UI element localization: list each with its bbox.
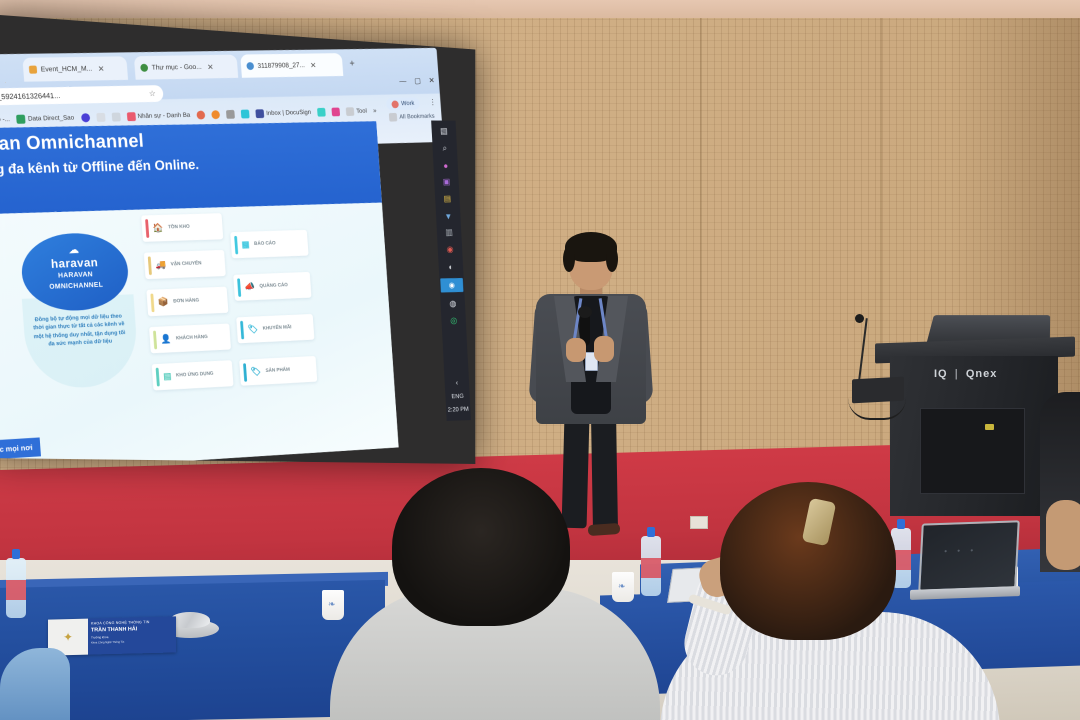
all-bookmarks-label: All Bookmarks	[399, 113, 435, 120]
slide-body: ...I THIỆU WEBSITE LOYALTY & CUSTOMER EN…	[0, 203, 399, 464]
slide-title: Haravan Omnichannel	[0, 127, 371, 157]
presenter-right-leg	[591, 416, 618, 530]
conference-room: Event_HCM_M... ✕ Thư mục - Goo... ✕ 3118…	[0, 0, 1080, 720]
maximize-icon[interactable]: ▢	[414, 76, 421, 85]
minimize-icon[interactable]: —	[399, 77, 407, 86]
wall-outlet	[690, 516, 708, 529]
start-icon[interactable]: ▤	[438, 126, 450, 136]
mail-icon[interactable]	[96, 112, 105, 121]
podium-logo-divider: |	[955, 368, 959, 380]
card-label: VẬN CHUYỂN	[171, 261, 202, 268]
teams-icon[interactable]	[317, 107, 326, 116]
promo-icon: 🏷	[247, 324, 258, 336]
podium-logo-secondary: Qnex	[966, 368, 998, 380]
profile-chip[interactable]: Work	[386, 97, 420, 110]
report-icon: ▦	[241, 239, 250, 251]
tab-title: 311879908_27...	[257, 62, 305, 70]
presenter-hair-side	[563, 246, 575, 272]
whatsapp-icon[interactable]: ◎	[448, 316, 460, 327]
product-icon: 🏷	[250, 366, 261, 378]
card-accent-bar	[148, 256, 152, 275]
kebab-menu-icon[interactable]: ⋮	[429, 98, 436, 107]
card-accent-bar	[153, 331, 157, 350]
clock[interactable]: 2:20 PM	[446, 406, 471, 414]
browser-tab[interactable]: Thư mục - Goo... ✕	[134, 55, 238, 80]
podium-equipment-panel	[920, 408, 1025, 494]
cortana-icon[interactable]: ●	[440, 160, 452, 170]
bottle-label	[6, 580, 26, 600]
chevron-up-icon[interactable]: ‹	[445, 378, 470, 387]
taskbar-system-tray[interactable]: ‹ ENG 2:20 PM	[445, 378, 471, 414]
tab-favicon	[246, 62, 254, 70]
projection-screen: Event_HCM_M... ✕ Thư mục - Goo... ✕ 3118…	[0, 14, 475, 464]
bookmark-favicon	[126, 112, 135, 121]
tab-close-icon[interactable]: ✕	[310, 61, 317, 70]
teams-icon[interactable]: ▣	[441, 177, 453, 187]
edge-icon[interactable]: ◐	[445, 261, 457, 272]
bookmark-label: Nhân sự - Danh Ba	[137, 111, 190, 119]
tab-favicon	[140, 64, 148, 72]
explorer-icon[interactable]: ▤	[441, 194, 453, 204]
card-accent-bar	[234, 236, 238, 254]
bookmark-favicon	[16, 114, 25, 123]
browser-tab-active[interactable]: 311879908_27... ✕	[240, 53, 343, 78]
slide-subtitle: ...n hàng đa kênh từ Offline đến Online.	[0, 153, 372, 178]
megaphone-icon: 📣	[244, 281, 255, 293]
folder-icon[interactable]: ▥	[443, 227, 455, 237]
podium-logo-primary: IQ	[934, 368, 948, 380]
photos-icon[interactable]	[111, 112, 120, 121]
bookmark-label: Inbox | DocuSign	[266, 109, 311, 117]
card-label: KHO ỨNG DỤNG	[176, 371, 214, 379]
nameplate: ✦ KHOA CÔNG NGHỆ THÔNG TIN TRẦN THANH HẢ…	[48, 616, 176, 655]
tab-close-icon[interactable]: ✕	[207, 62, 214, 71]
audience-member-head	[392, 468, 570, 626]
warehouse-icon: 🏠	[152, 222, 163, 234]
tab-title: Thư mục - Goo...	[151, 63, 201, 71]
bookmarks-overflow-icon[interactable]: »	[373, 107, 377, 114]
card-accent-bar	[156, 368, 160, 387]
cup-logo: ❧	[328, 599, 336, 610]
diagram-card: 👤 KHÁCH HÀNG	[149, 323, 231, 353]
order-icon: 📦	[158, 296, 169, 308]
presenter-shoe	[588, 523, 621, 536]
window-controls[interactable]: — ▢ ✕	[399, 76, 435, 85]
star-icon[interactable]: ☆	[149, 89, 156, 98]
nameplate-name: TRẦN THANH HẢI	[91, 625, 174, 633]
folder-icon	[389, 113, 398, 122]
presenter-left-leg	[562, 416, 590, 529]
card-accent-bar	[240, 321, 244, 339]
address-bar[interactable]: 7617273_5924161326441... ☆	[0, 85, 164, 106]
customer-icon: 👤	[160, 334, 171, 346]
bookmark-item[interactable]: Nhân sự - Danh Ba	[126, 110, 190, 120]
presenter-hair-side	[606, 246, 618, 272]
diagram-card: ▤ KHO ỨNG DỤNG	[152, 360, 234, 390]
card-label: KHÁCH HÀNG	[176, 334, 208, 342]
folder-icon	[346, 107, 355, 116]
audience-member-arm	[1046, 500, 1080, 570]
bookmark-item[interactable]: Toàn Sao -...	[0, 115, 10, 125]
card-label: SẢN PHẨM	[265, 367, 290, 375]
zalo-icon[interactable]: ▼	[442, 211, 454, 221]
nameplate-dept: Khoa Công Nghệ Thông Tin	[91, 639, 174, 644]
bookmark-item[interactable]: Inbox | DocuSign	[255, 108, 311, 118]
nameplate-org: KHOA CÔNG NGHỆ THÔNG TIN	[91, 619, 174, 625]
tab-favicon	[29, 66, 37, 74]
candy-wrappers	[170, 612, 210, 628]
card-label: ĐƠN HÀNG	[173, 298, 199, 305]
card-accent-bar	[237, 278, 241, 296]
bookmark-item[interactable]: Tool	[346, 106, 367, 115]
nameplate-text-panel: KHOA CÔNG NGHỆ THÔNG TIN TRẦN THANH HẢI …	[88, 616, 176, 654]
paper-cup: ❧	[322, 590, 344, 620]
apps-icon: ▤	[163, 371, 172, 383]
presenter-right-hand	[594, 336, 614, 362]
water-bottle	[6, 558, 26, 618]
profile-label: Work	[401, 100, 415, 107]
card-label: KHUYẾN MÃI	[262, 325, 291, 333]
bookmark-label: Data Direct_Sao	[28, 114, 75, 122]
drive-icon[interactable]	[196, 110, 205, 119]
settings-icon[interactable]	[211, 110, 220, 119]
slide-header: Haravan Omnichannel ...n hàng đa kênh từ…	[0, 121, 382, 215]
bookmark-label: Toàn Sao -...	[0, 116, 10, 124]
language-indicator[interactable]: ENG	[445, 393, 470, 400]
microphone-head	[855, 314, 864, 323]
data-icon[interactable]	[241, 109, 250, 118]
university-logo-icon: ✦	[63, 630, 73, 644]
diagram-card: 🏷 KHUYẾN MÃI	[236, 314, 314, 343]
diagram-card: 📦 ĐƠN HÀNG	[146, 287, 228, 317]
card-label: BÁO CÁO	[254, 241, 276, 248]
close-icon[interactable]: ✕	[428, 76, 434, 85]
diagram-card: 🏷 SẢN PHẨM	[239, 356, 317, 386]
truck-icon: 🚚	[155, 259, 166, 271]
audience-laptop-screen: • • •	[918, 520, 1020, 592]
bookmark-label: Tool	[356, 107, 367, 114]
active-app-icon[interactable]: ◉	[440, 278, 463, 293]
paper-cup: ❧	[612, 572, 634, 602]
netly-icon[interactable]	[226, 109, 235, 118]
bookmark-favicon	[255, 109, 264, 118]
dropbox-icon[interactable]	[81, 113, 90, 122]
bookmark-item[interactable]: Data Direct_Sao	[16, 113, 74, 123]
card-accent-bar	[145, 219, 149, 238]
tab-close-icon[interactable]: ✕	[98, 64, 105, 73]
new-tab-button[interactable]: +	[349, 59, 355, 70]
youtube-icon[interactable]	[331, 107, 340, 116]
podium-logo: IQ | Qnex	[934, 368, 997, 380]
laptop-screen-content: • • •	[944, 546, 977, 556]
slide-page: Haravan Omnichannel ...n hàng đa kênh từ…	[0, 121, 399, 464]
hub-name-line2: OMNICHANNEL	[23, 281, 129, 294]
card-label: TỒN KHO	[168, 224, 190, 231]
bottle-label	[641, 558, 661, 578]
card-accent-bar	[243, 363, 247, 381]
microphone-capsule	[578, 306, 592, 318]
cup-logo: ❧	[618, 581, 626, 592]
tab-title: Event_HCM_M...	[41, 65, 93, 73]
messenger-icon[interactable]: ◍	[447, 299, 459, 310]
card-accent-bar	[150, 294, 154, 313]
hub-note: Đồng bộ tự động mọi dữ liệu theo thời gi…	[29, 312, 129, 350]
hub-brand: haravan	[21, 254, 128, 272]
chrome-icon[interactable]: ◉	[444, 244, 456, 255]
all-bookmarks-item[interactable]: All Bookmarks	[389, 112, 435, 122]
water-bottle	[641, 536, 661, 596]
address-bar-value: 7617273_5924161326441...	[0, 91, 60, 102]
avatar	[391, 100, 399, 108]
diagram-card: ▦ BÁO CÁO	[230, 230, 308, 259]
diagram-card: 🚚 VẬN CHUYỂN	[144, 250, 226, 279]
diagram-card: 📣 QUẢNG CÁO	[233, 272, 311, 301]
browser-tab[interactable]: Event_HCM_M... ✕	[22, 56, 128, 81]
search-icon[interactable]: ⌕	[439, 143, 451, 153]
status-led	[985, 424, 994, 430]
diagram-card: 🏠 TỒN KHO	[141, 213, 223, 242]
presenter-left-hand	[566, 338, 586, 362]
card-label: QUẢNG CÁO	[259, 283, 288, 290]
